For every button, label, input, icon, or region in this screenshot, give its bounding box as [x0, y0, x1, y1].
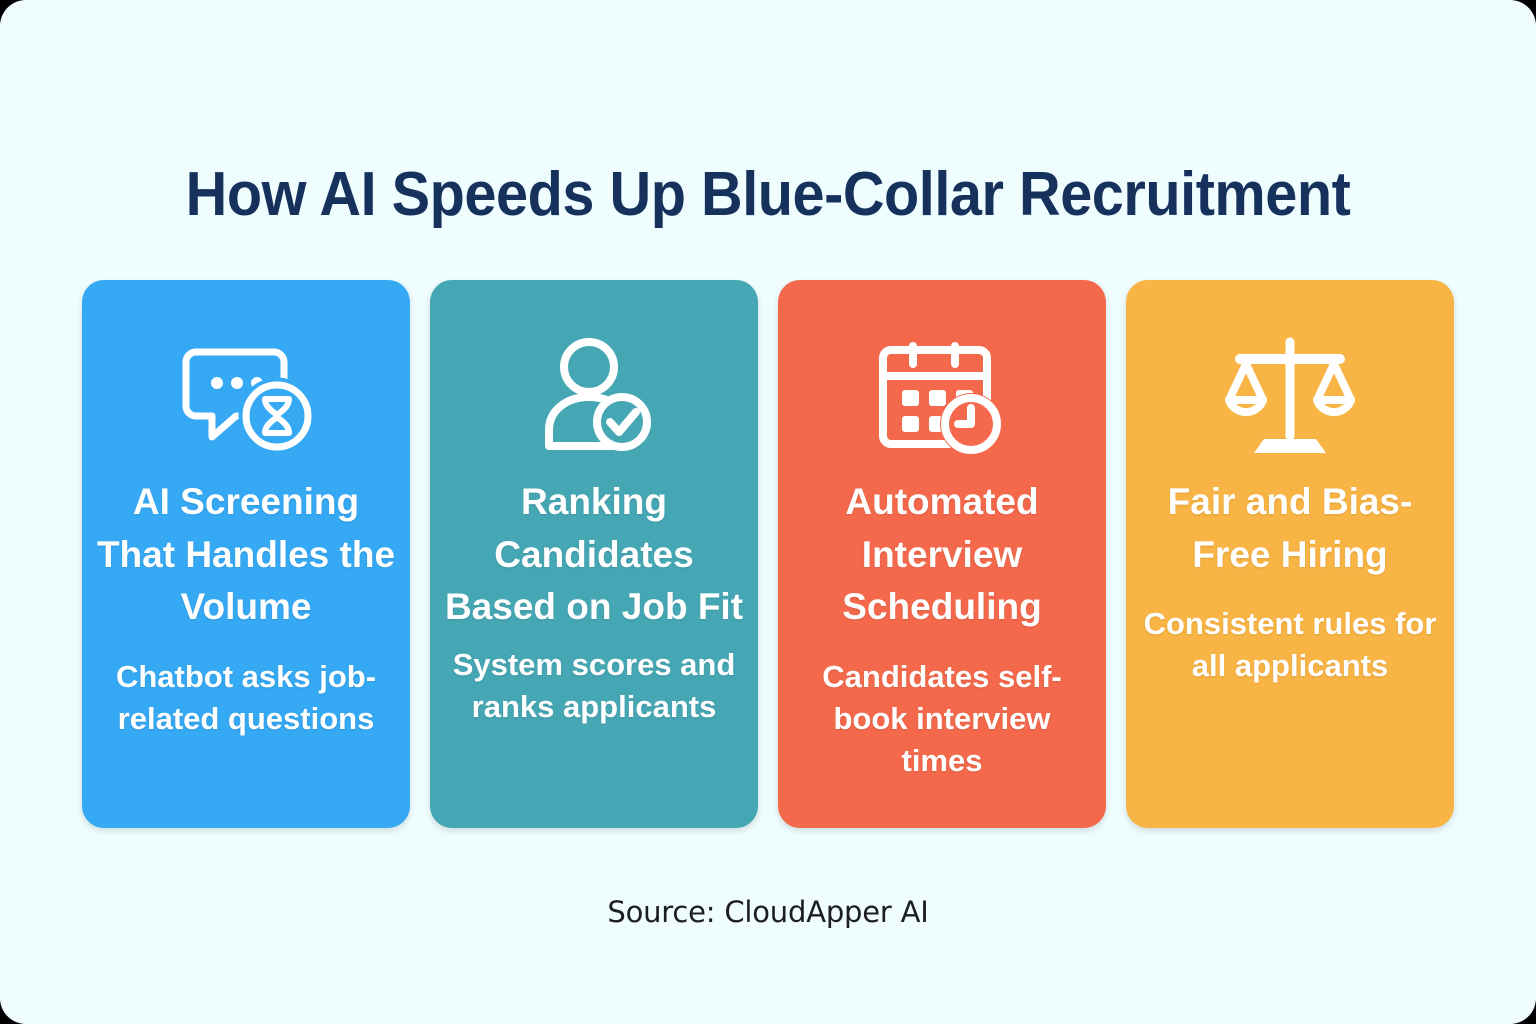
feature-card-description: Chatbot asks job-related questions	[96, 656, 396, 740]
feature-card-description: Consistent rules for all applicants	[1140, 603, 1440, 687]
feature-card-description: Candidates self-book interview times	[792, 656, 1092, 782]
feature-card-ai-screening[interactable]: AI Screening That Handles the Volume Cha…	[82, 280, 410, 828]
feature-card-title: Ranking Candidates Based on Job Fit	[444, 476, 744, 634]
feature-card-scheduling[interactable]: Automated Interview Scheduling Candidate…	[778, 280, 1106, 828]
feature-card-title: AI Screening That Handles the Volume	[96, 476, 396, 634]
person-check-icon	[519, 332, 669, 460]
feature-card-row: AI Screening That Handles the Volume Cha…	[82, 280, 1454, 830]
feature-card-title: Fair and Bias-Free Hiring	[1140, 476, 1440, 581]
calendar-clock-icon	[867, 332, 1017, 460]
infographic-canvas: How AI Speeds Up Blue-Collar Recruitment…	[0, 0, 1536, 1024]
feature-card-ranking[interactable]: Ranking Candidates Based on Job Fit Syst…	[430, 280, 758, 828]
feature-card-description: System scores and ranks applicants	[444, 644, 744, 728]
page-title: How AI Speeds Up Blue-Collar Recruitment	[54, 162, 1482, 227]
balance-scales-icon	[1215, 332, 1365, 460]
chat-bubble-hourglass-icon	[171, 332, 321, 460]
feature-card-fair-hiring[interactable]: Fair and Bias-Free Hiring Consistent rul…	[1126, 280, 1454, 828]
feature-card-title: Automated Interview Scheduling	[792, 476, 1092, 634]
source-attribution: Source: CloudApper AI	[0, 895, 1536, 929]
